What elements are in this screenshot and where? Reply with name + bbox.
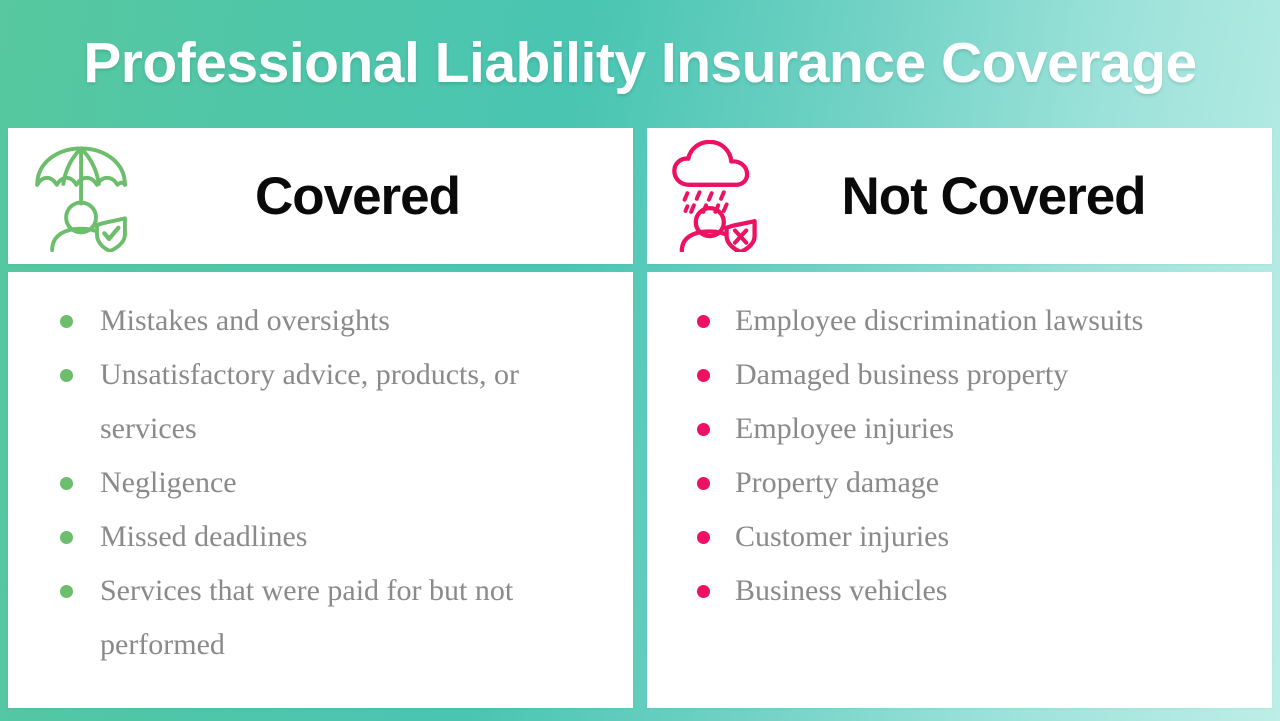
list-item-label: Employee discrimination lawsuits — [735, 304, 1143, 337]
body-card-not-covered: Employee discrimination lawsuits Damaged… — [647, 272, 1272, 708]
bullet-dot-icon — [60, 315, 73, 328]
list-item-label: Employee injuries — [735, 412, 954, 445]
page-title: Professional Liability Insurance Coverag… — [83, 30, 1197, 96]
bullet-dot-icon — [697, 315, 710, 328]
infographic-page: Professional Liability Insurance Coverag… — [0, 0, 1280, 721]
list-item: Employee injuries — [677, 402, 1246, 456]
list-item-label: Business vehicles — [735, 574, 947, 607]
umbrella-person-shield-check-icon — [22, 136, 142, 256]
list-item: Negligence — [38, 456, 607, 510]
bullet-dot-icon — [697, 477, 710, 490]
list-item-label: Negligence — [100, 466, 237, 499]
list-item: Mistakes and oversights — [38, 294, 607, 348]
list-item-label: Damaged business property — [735, 358, 1068, 391]
list-item-label: Missed deadlines — [100, 520, 307, 553]
header-title-covered: Covered — [142, 166, 633, 227]
list-item: Services that were paid for but not perf… — [38, 564, 607, 672]
list-item: Customer injuries — [677, 510, 1246, 564]
bullet-dot-icon — [60, 531, 73, 544]
not-covered-list: Employee discrimination lawsuits Damaged… — [677, 294, 1246, 618]
list-item: Damaged business property — [677, 348, 1246, 402]
list-item: Property damage — [677, 456, 1246, 510]
rain-cloud-person-shield-x-icon — [661, 136, 781, 256]
header-card-not-covered: Not Covered — [647, 128, 1272, 264]
list-item-label: Customer injuries — [735, 520, 949, 553]
list-item: Unsatisfactory advice, products, or serv… — [38, 348, 607, 456]
list-item: Missed deadlines — [38, 510, 607, 564]
bullet-dot-icon — [697, 531, 710, 544]
list-item-label: Unsatisfactory advice, products, or serv… — [100, 358, 519, 445]
header-title-not-covered: Not Covered — [781, 166, 1272, 227]
body-card-covered: Mistakes and oversights Unsatisfactory a… — [8, 272, 633, 708]
bullet-dot-icon — [60, 369, 73, 382]
list-item: Business vehicles — [677, 564, 1246, 618]
header-card-covered: Covered — [8, 128, 633, 264]
bullet-dot-icon — [60, 585, 73, 598]
body-cards-row: Mistakes and oversights Unsatisfactory a… — [8, 272, 1272, 708]
bullet-dot-icon — [697, 369, 710, 382]
list-item: Employee discrimination lawsuits — [677, 294, 1246, 348]
header-cards-row: Covered — [8, 128, 1272, 264]
bullet-dot-icon — [60, 477, 73, 490]
page-title-bar: Professional Liability Insurance Coverag… — [0, 0, 1280, 126]
list-item-label: Property damage — [735, 466, 939, 499]
bullet-dot-icon — [697, 423, 710, 436]
list-item-label: Services that were paid for but not perf… — [100, 574, 513, 661]
bullet-dot-icon — [697, 585, 710, 598]
list-item-label: Mistakes and oversights — [100, 304, 390, 337]
covered-list: Mistakes and oversights Unsatisfactory a… — [38, 294, 607, 672]
